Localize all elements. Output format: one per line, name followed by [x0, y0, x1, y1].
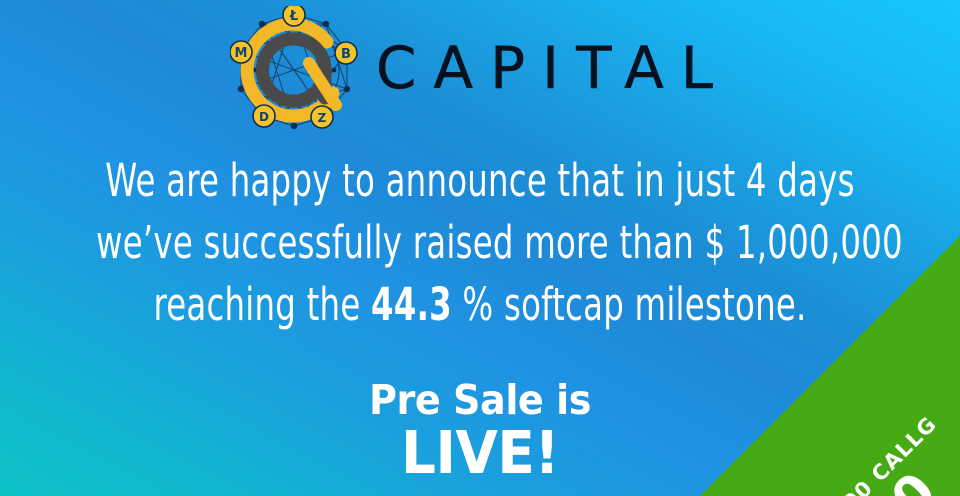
headline-line-3: reaching the 44.3 % softcap milestone. [96, 274, 864, 336]
svg-text:Ł: Ł [289, 9, 298, 24]
svg-text:Z: Z [318, 111, 327, 125]
softcap-percentage: 44.3 [371, 278, 452, 331]
headline-block: We are happy to announce that in just 4 … [0, 150, 960, 336]
litecoin-coin-icon: Ł [283, 6, 305, 26]
brand-wordmark: CAPITAL [376, 39, 730, 101]
svg-text:D: D [259, 110, 269, 124]
cta-presale-label: Pre Sale is [34, 378, 927, 422]
cta-live-label: LIVE! [34, 422, 927, 484]
headline-line-2: we’ve successfully raised more than $ 1,… [96, 212, 864, 274]
headline-line-1: We are happy to announce that in just 4 … [96, 150, 864, 212]
bitcoin-coin-icon: B [335, 42, 357, 64]
cta-block: Pre Sale is LIVE! [0, 378, 960, 484]
svg-text:B: B [341, 47, 351, 62]
svg-text:M: M [234, 46, 247, 61]
headline-line-3-suffix: % softcap milestone. [452, 278, 807, 331]
dash-coin-icon: D [253, 105, 275, 127]
monero-coin-icon: M [230, 41, 252, 63]
capital-c-network-logo: Ł M B D Z [230, 6, 358, 134]
zcash-coin-icon: Z [311, 106, 333, 128]
brand-header: Ł M B D Z CAPITAL [0, 4, 960, 136]
promo-banner: Ł M B D Z CAPITAL [0, 0, 960, 496]
headline-line-3-prefix: reaching the [153, 278, 371, 331]
